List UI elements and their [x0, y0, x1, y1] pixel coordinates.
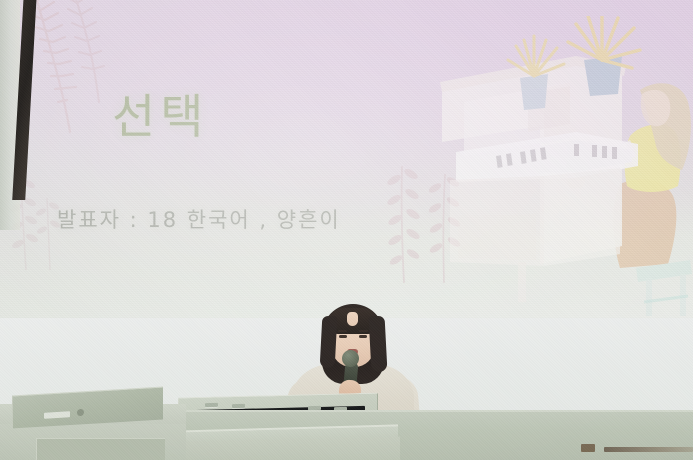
monitor-clip [232, 404, 245, 408]
presentation-photo: 선택 발표자 : 18 한국어 , 양흔이 [0, 0, 693, 460]
presenter-eyebrow-right [359, 330, 368, 332]
monitor-clip [205, 403, 218, 407]
left-desk-panel [36, 438, 165, 460]
presenter-eye-left [339, 335, 347, 338]
presenter-hair-side-right [369, 316, 388, 373]
presenter-hair-side-left [320, 316, 338, 369]
presenter-eye-right [359, 335, 367, 338]
microphone-head [342, 350, 359, 367]
presenter-eyebrow-left [338, 330, 347, 332]
counter-object-dark [581, 444, 595, 452]
slide-title: 선택 [112, 92, 208, 145]
pianist-illustration [424, 16, 693, 316]
projection-screen: 선택 발표자 : 18 한국어 , 양흔이 [0, 0, 693, 321]
counter-object-strip [604, 447, 693, 452]
presenter-forehead [347, 312, 358, 326]
slide-subtitle: 발표자 : 18 한국어 , 양흔이 [57, 204, 341, 234]
